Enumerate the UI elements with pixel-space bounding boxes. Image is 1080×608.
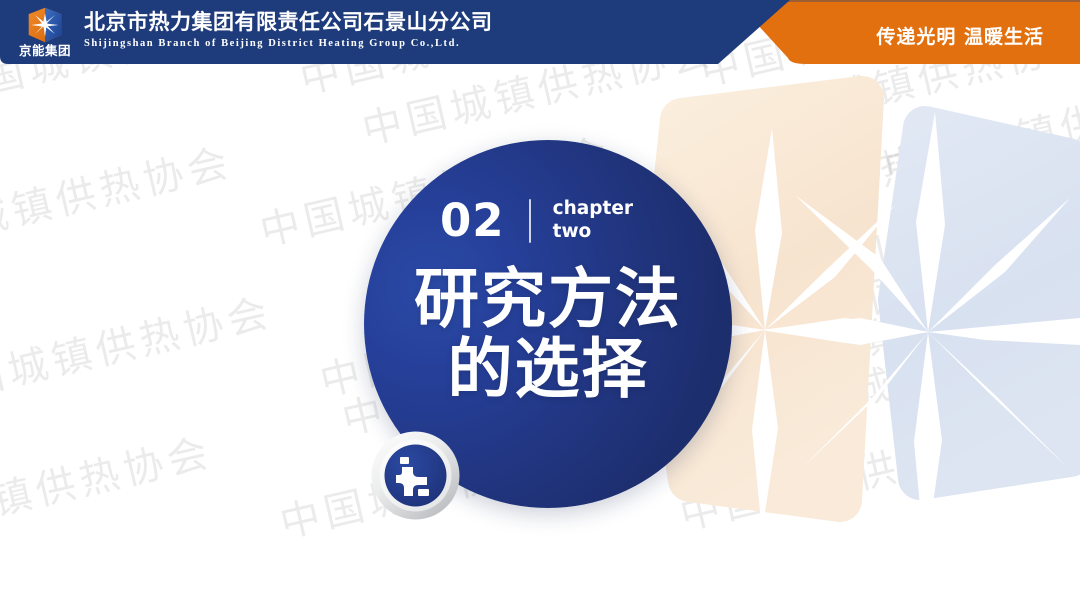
chapter-divider — [529, 199, 531, 243]
watermark-text: 中国城镇供热协会 中国城镇供热协会 中国城镇供热协会 中国城镇供热协会 中国城镇… — [673, 0, 1080, 541]
decor-blue-shape — [900, 128, 1070, 478]
organization-name: 北京市热力集团有限责任公司石景山分公司 Shijingshan Branch o… — [84, 9, 493, 51]
chapter-label-line1: chapter — [553, 198, 633, 219]
page-title: 研究方法 的选择 — [364, 265, 732, 405]
company-logo: 京能集团 — [14, 6, 76, 62]
org-name-cn: 北京市热力集团有限责任公司石景山分公司 — [84, 9, 493, 35]
header-bar: 京能集团 北京市热力集团有限责任公司石景山分公司 Shijingshan Bra… — [0, 0, 1080, 66]
jingneng-cube-star-logo-icon — [25, 6, 65, 44]
org-name-en: Shijingshan Branch of Beijing District H… — [84, 37, 493, 51]
company-slogan: 传递光明 温暖生活 — [876, 22, 1044, 49]
chapter-number: 02 — [440, 198, 505, 243]
pipe-flow-badge — [371, 431, 460, 520]
chapter-label-line2: two — [553, 221, 592, 242]
page-title-line2: 的选择 — [364, 335, 732, 405]
decor-sparkle-star — [760, 112, 1080, 560]
logo-wordmark: 京能集团 — [19, 45, 71, 58]
page-title-line1: 研究方法 — [364, 265, 732, 335]
chapter-number-row: 02 chapter two — [440, 198, 633, 243]
slide-canvas: 中国城镇供热协会 中国城镇供热协会 中国城镇供热协会 中国城镇供热协会 中国城镇… — [0, 0, 1080, 608]
chapter-label: chapter two — [553, 198, 633, 243]
